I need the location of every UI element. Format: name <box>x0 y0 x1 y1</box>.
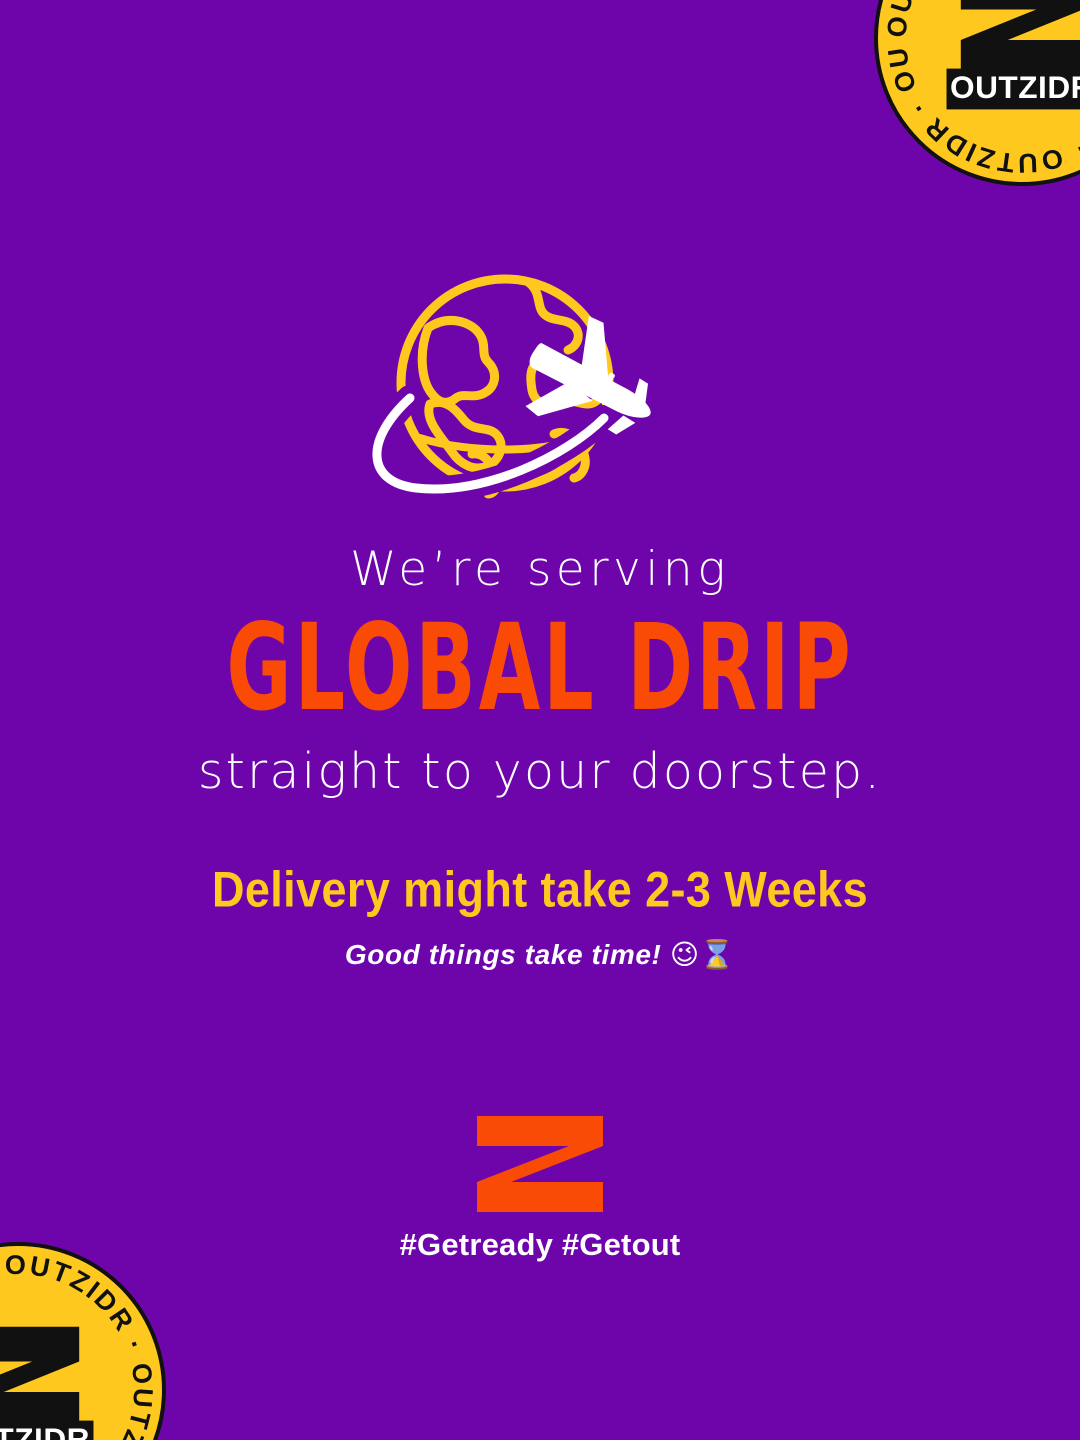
seal-wordmark: OUTZIDR <box>0 1421 90 1440</box>
outzidr-seal-top-right: OUTZIDR · OUTZIDR · OUTZIDR · OUTZIDR · … <box>872 0 1080 188</box>
seal-wordmark: OUTZIDR <box>950 69 1080 105</box>
copy-block: We’re serving GLOBAL DRIP straight to yo… <box>0 546 1080 969</box>
outzidr-z-logo <box>477 1116 603 1212</box>
outzidr-seal-bottom-left: OUTZIDR · OUTZIDR · OUTZIDR · OUTZIDR · … <box>0 1240 168 1440</box>
z-mark-icon <box>477 1116 603 1212</box>
subhead-text: straight to your doorstep. <box>0 747 1080 796</box>
hero-illustration <box>0 268 1080 518</box>
delivery-note-text: Delivery might take 2-3 Weeks <box>0 864 1080 914</box>
reassurance-text: Good things take time! <box>345 939 662 970</box>
seal-graphic: OUTZIDR · OUTZIDR · OUTZIDR · OUTZIDR · … <box>872 0 1080 188</box>
wink-hourglass-emoji: 😉⌛ <box>670 938 735 971</box>
reassurance-line: Good things take time! 😉⌛ <box>0 941 1080 969</box>
promo-poster: We’re serving GLOBAL DRIP straight to yo… <box>0 0 1080 1440</box>
headline-text: GLOBAL DRIP <box>22 609 1059 729</box>
seal-graphic: OUTZIDR · OUTZIDR · OUTZIDR · OUTZIDR · … <box>0 1240 168 1440</box>
eyebrow-text: We’re serving <box>0 546 1080 593</box>
globe-airplane-icon <box>360 268 720 518</box>
